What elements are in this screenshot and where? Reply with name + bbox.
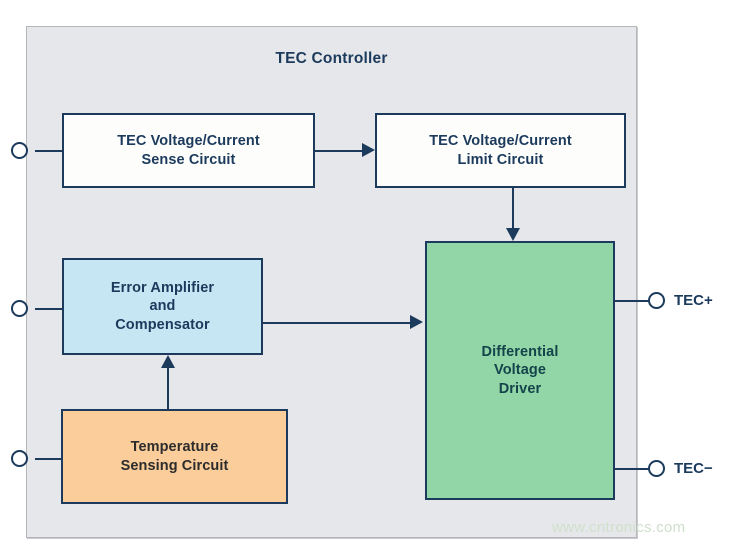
block-label: Differential Voltage Driver (482, 343, 559, 399)
block-temperature-sensing-circuit[interactable]: Temperature Sensing Circuit (61, 409, 288, 504)
terminal-label-tec-plus: TEC+ (674, 292, 713, 309)
block-label-line1: TEC Voltage/Current (429, 133, 572, 149)
wire-input-to-temperature-sensing (35, 458, 61, 460)
block-label: TEC Voltage/Current Sense Circuit (117, 132, 260, 169)
block-label-line2: Sense Circuit (142, 152, 236, 168)
terminal-input-sense[interactable] (11, 142, 28, 159)
terminal-output-tec-minus[interactable] (648, 460, 665, 477)
arrowhead-temperature-to-error-amplifier (161, 355, 175, 368)
block-error-amplifier-and-compensator[interactable]: Error Amplifier and Compensator (62, 258, 263, 355)
block-tec-voltage-current-sense-circuit[interactable]: TEC Voltage/Current Sense Circuit (62, 113, 315, 188)
wire-input-to-sense (35, 150, 62, 152)
wire-limit-to-driver (512, 188, 514, 230)
block-label: Error Amplifier and Compensator (111, 279, 214, 335)
block-label: TEC Voltage/Current Limit Circuit (429, 132, 572, 169)
block-label-line1: TEC Voltage/Current (117, 133, 260, 149)
block-label-line2: and (149, 298, 175, 314)
block-diagram-canvas: TEC Controller TEC Voltage/Current Sense… (0, 0, 736, 550)
block-tec-voltage-current-limit-circuit[interactable]: TEC Voltage/Current Limit Circuit (375, 113, 626, 188)
arrowhead-limit-to-driver (506, 228, 520, 241)
wire-sense-to-limit (315, 150, 365, 152)
block-label-line3: Compensator (115, 317, 210, 333)
arrowhead-error-amplifier-to-driver (410, 315, 423, 329)
terminal-input-error-amp[interactable] (11, 300, 28, 317)
watermark: www.cntronics.com (552, 519, 685, 536)
terminal-label-tec-minus: TEC− (674, 460, 713, 477)
block-label-line3: Driver (499, 381, 542, 397)
block-label-line1: Error Amplifier (111, 280, 214, 296)
block-label-line1: Differential (482, 344, 559, 360)
terminal-input-temperature[interactable] (11, 450, 28, 467)
arrowhead-sense-to-limit (362, 143, 375, 157)
block-label-line2: Limit Circuit (458, 152, 544, 168)
block-differential-voltage-driver[interactable]: Differential Voltage Driver (425, 241, 615, 500)
block-label-line1: Temperature (131, 439, 219, 455)
block-label: Temperature Sensing Circuit (121, 438, 229, 475)
block-label-line2: Sensing Circuit (121, 458, 229, 474)
wire-error-amplifier-to-driver (263, 322, 413, 324)
block-label-line2: Voltage (494, 362, 546, 378)
terminal-output-tec-plus[interactable] (648, 292, 665, 309)
wire-input-to-error-amplifier (35, 308, 62, 310)
page-title: TEC Controller (26, 50, 637, 68)
wire-temperature-to-error-amplifier (167, 368, 169, 409)
